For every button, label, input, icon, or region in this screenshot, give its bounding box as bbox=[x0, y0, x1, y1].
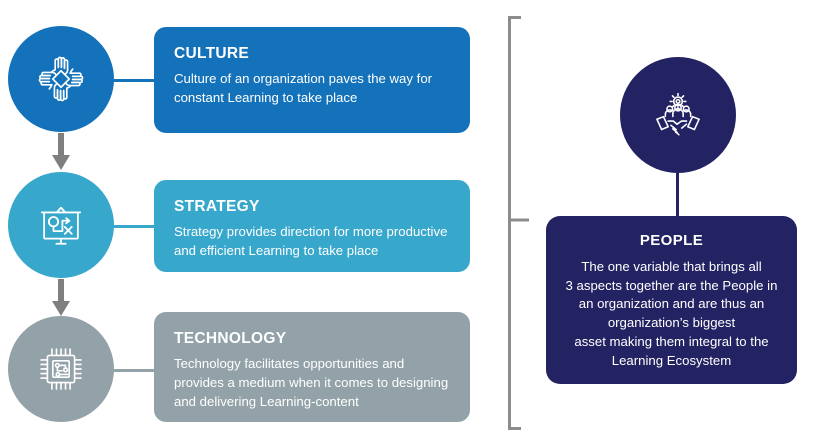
technology-card-body: Technology facilitates opportunities and… bbox=[174, 354, 450, 411]
technology-connector-line bbox=[110, 369, 156, 372]
culture-card-title: CULTURE bbox=[174, 45, 450, 62]
microchip-icon bbox=[32, 340, 90, 398]
culture-card[interactable]: CULTURE Culture of an organization paves… bbox=[154, 27, 470, 133]
arrow-down-icon bbox=[50, 279, 72, 319]
people-connector-line bbox=[676, 173, 679, 218]
handshake-people-gear-icon bbox=[648, 85, 708, 145]
technology-card[interactable]: TECHNOLOGY Technology facilitates opport… bbox=[154, 312, 470, 422]
people-card-title: PEOPLE bbox=[560, 232, 783, 249]
grouping-bracket-icon bbox=[499, 16, 531, 430]
strategy-card-body: Strategy provides direction for more pro… bbox=[174, 222, 450, 260]
people-card-body: The one variable that brings all 3 aspec… bbox=[560, 258, 783, 370]
strategy-icon-circle bbox=[8, 172, 114, 278]
strategy-connector-line bbox=[110, 225, 156, 228]
strategy-card-title: STRATEGY bbox=[174, 198, 450, 215]
people-card[interactable]: PEOPLE The one variable that brings all … bbox=[546, 216, 797, 384]
culture-connector-line bbox=[110, 79, 156, 82]
technology-icon-circle bbox=[8, 316, 114, 422]
people-icon-circle bbox=[620, 57, 736, 173]
arrow-down-icon bbox=[50, 133, 72, 173]
diagram-canvas: CULTURE Culture of an organization paves… bbox=[0, 0, 829, 446]
strategy-board-icon bbox=[31, 195, 91, 255]
technology-card-title: TECHNOLOGY bbox=[174, 330, 450, 347]
four-hands-teamwork-icon bbox=[30, 48, 92, 110]
culture-icon-circle bbox=[8, 26, 114, 132]
culture-card-body: Culture of an organization paves the way… bbox=[174, 69, 450, 107]
strategy-card[interactable]: STRATEGY Strategy provides direction for… bbox=[154, 180, 470, 272]
